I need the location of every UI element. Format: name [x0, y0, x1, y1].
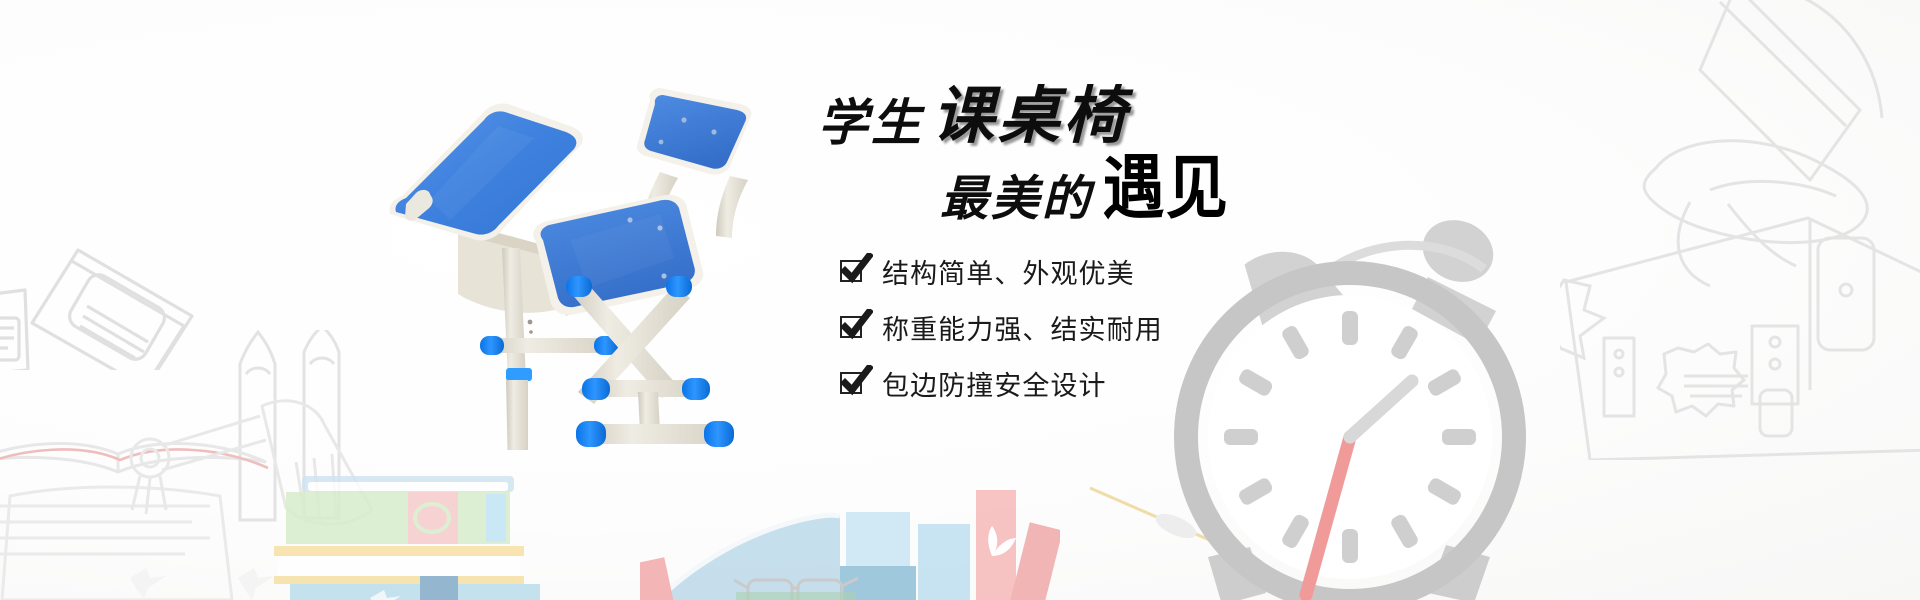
headline-line2-bold: 遇见: [1103, 155, 1229, 224]
feature-label: 结构简单、外观优美: [882, 252, 1135, 291]
feature-list: 结构简单、外观优美 称重能力强、结实耐用 包边防撞安全设计: [840, 248, 1163, 416]
headline-line-2: 最美的 遇见: [940, 162, 1229, 224]
headline-line1-small: 学生: [818, 98, 924, 148]
headline-line2-small: 最美的: [940, 176, 1093, 224]
student-desk-and-chair-product-image: [330, 80, 830, 450]
feature-item: 结构简单、外观优美: [840, 248, 1163, 294]
feature-item: 称重能力强、结实耐用: [840, 304, 1163, 350]
checkbox-checked-icon: [840, 258, 866, 284]
satchel-backpack-outline-icon: [1560, 0, 1920, 460]
notebook-stack-outline-icon: [0, 120, 300, 370]
chair-back: [637, 88, 752, 175]
stacked-books-pastel-icon: [250, 470, 670, 600]
feature-label: 称重能力强、结实耐用: [882, 308, 1163, 347]
checkbox-checked-icon: [840, 370, 866, 396]
open-book-outline-icon: [0, 410, 380, 600]
headline-line-1: 学生 课桌椅: [818, 86, 1129, 148]
feature-label: 包边防撞安全设计: [882, 364, 1107, 403]
open-book-pastel-icon: [640, 468, 1060, 600]
chair-leg-frame: [566, 276, 734, 447]
headline-line1-big: 课桌椅: [932, 86, 1129, 148]
feature-item: 包边防撞安全设计: [840, 360, 1163, 406]
promo-banner: 学生 课桌椅 最美的 遇见 结构简单、外观优美: [0, 0, 1920, 600]
checkbox-checked-icon: [840, 314, 866, 340]
